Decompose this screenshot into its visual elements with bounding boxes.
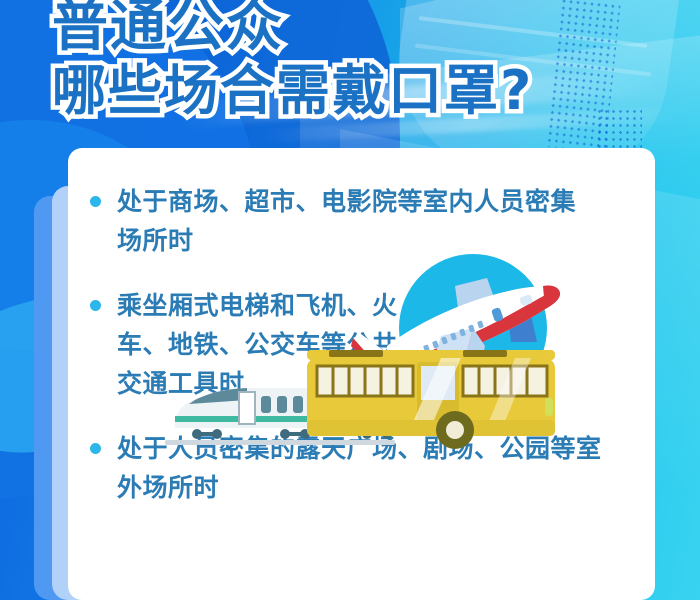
public-transport-illustration: [155, 250, 585, 465]
bus-icon: [307, 350, 555, 449]
bullet-dot-icon: [90, 300, 101, 311]
infographic-poster: 普通公众 哪些场合需戴口罩? 处于商场、超市、电影院等室内人员密集场所时 乘坐厢…: [0, 0, 700, 600]
bullet-dot-icon: [90, 196, 101, 207]
list-item: 处于商场、超市、电影院等室内人员密集场所时: [90, 182, 631, 260]
bullet-dot-icon: [90, 443, 101, 454]
title-line-2: 哪些场合需戴口罩?: [52, 60, 533, 122]
poster-title: 普通公众 哪些场合需戴口罩?: [52, 0, 533, 122]
bullet-text: 处于商场、超市、电影院等室内人员密集场所时: [117, 182, 597, 260]
title-line-1: 普通公众: [52, 0, 533, 58]
